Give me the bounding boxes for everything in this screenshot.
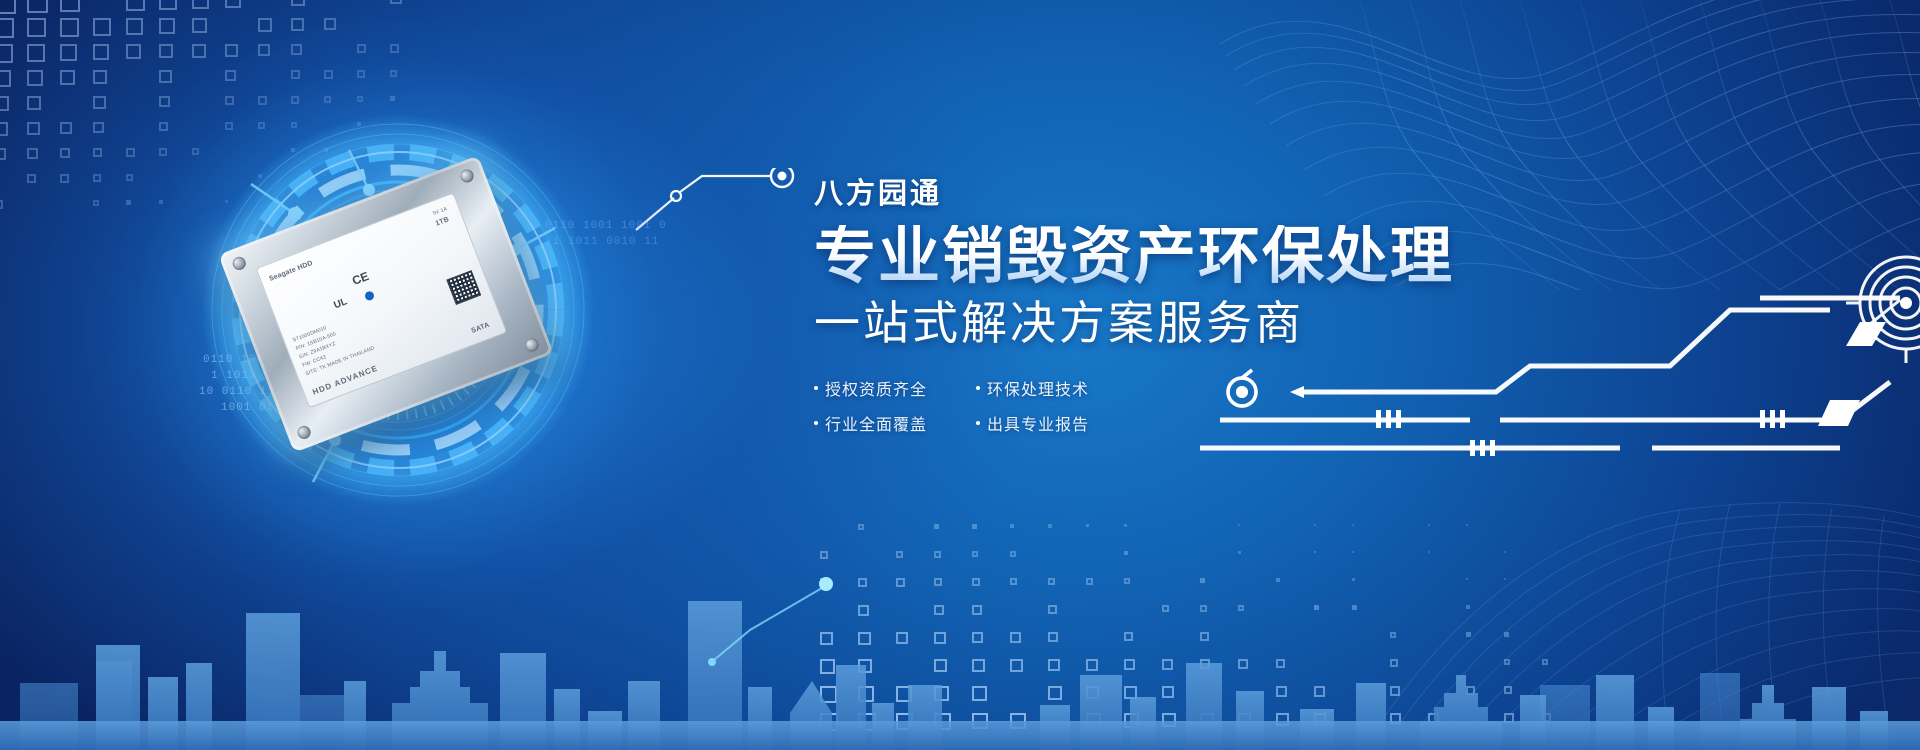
decorative-square (93, 18, 111, 36)
decorative-square (159, 18, 175, 34)
hard-drive-label: Seagate HDD 5V 1A 1TB ST1000DM010 P/N: 1… (256, 192, 508, 408)
feature-label-3: 出具专业报告 (987, 411, 1089, 435)
feature-list: 授权资质齐全 环保处理技术 行业全面覆盖 出具专业报告 (814, 376, 1574, 435)
decorative-square (0, 44, 13, 63)
decorative-square (126, 18, 143, 35)
hdd-model-text: Seagate HDD (268, 260, 314, 283)
decorative-square (225, 44, 238, 57)
decorative-square (291, 0, 305, 6)
decorative-square (1086, 524, 1089, 527)
hdd-capacity-text: 1TB (435, 216, 450, 227)
decorative-square (1428, 524, 1430, 526)
decorative-square (27, 44, 45, 62)
feature-item-3: 出具专业报告 (976, 411, 1111, 435)
decorative-square (0, 70, 11, 87)
decorative-square (159, 44, 173, 58)
decorative-square (0, 18, 14, 38)
decorative-square (27, 70, 43, 86)
decorative-square (93, 96, 106, 109)
decorative-square (60, 174, 69, 183)
decorative-square (93, 122, 104, 133)
decorative-square (1352, 524, 1354, 526)
decorative-square (258, 18, 272, 32)
feature-item-0: 授权资质齐全 (814, 376, 949, 400)
sparkle-nodes (690, 470, 950, 670)
hdd-screw-tl (231, 255, 248, 272)
decorative-square (291, 18, 304, 31)
binary-text-4: 0110 1001 1001 0 (545, 220, 667, 232)
subheadline: 一站式解决方案服务商 (814, 297, 1574, 350)
feature-label-2: 行业全面覆盖 (825, 411, 927, 435)
decorative-square (60, 148, 70, 158)
ce-mark: CE (350, 269, 371, 288)
decorative-square (159, 0, 177, 10)
hero-banner: 0110 1001 1001 0 1 1011 0010 110 10 0110… (0, 0, 1920, 750)
decorative-square (27, 174, 36, 183)
hdd-screw-bl (296, 424, 313, 441)
decorative-square (27, 18, 46, 37)
decorative-square (93, 174, 101, 182)
label-blue-dot (364, 290, 376, 302)
decorative-square (225, 0, 241, 8)
decorative-square (1466, 524, 1468, 526)
decorative-square (93, 70, 107, 84)
decorative-square (192, 44, 206, 58)
decorative-square (27, 122, 40, 135)
decorative-square (126, 0, 145, 11)
bullet-icon (976, 386, 980, 390)
feature-label-1: 环保处理技术 (987, 376, 1089, 400)
decorative-square (1124, 524, 1127, 527)
binary-text-5: 1 1011 0010 11 (553, 236, 659, 248)
decorative-square (390, 0, 402, 4)
decorative-square (27, 148, 38, 159)
decorative-square (126, 44, 141, 59)
decorative-square (60, 18, 79, 37)
feature-item-2: 行业全面覆盖 (814, 411, 949, 435)
decorative-square (1238, 524, 1240, 526)
decorative-square (0, 200, 3, 209)
decorative-square (93, 148, 102, 157)
hdd-interface-text: SATA (471, 322, 491, 335)
hdd-screw-tr (459, 168, 476, 185)
decorative-square (0, 96, 9, 111)
decorative-square (0, 0, 16, 14)
decorative-square (60, 122, 72, 134)
decorative-square (60, 44, 77, 61)
decorative-square (192, 0, 209, 9)
bullet-icon (976, 421, 980, 425)
headline: 专业销毁资产环保处理 (814, 225, 1574, 289)
bullet-icon (814, 386, 818, 390)
decorative-square (27, 0, 48, 13)
decorative-square (1314, 524, 1316, 526)
hdd-voltage-text: 5V 1A (432, 206, 448, 217)
copy-block: 八方园通 专业销毁资产环保处理 一站式解决方案服务商 授权资质齐全 环保处理技术… (814, 180, 1574, 435)
decorative-square (972, 524, 977, 529)
decorative-square (1048, 524, 1052, 528)
decorative-square (0, 148, 6, 160)
decorative-square (27, 96, 41, 110)
decorative-square (192, 18, 207, 33)
feature-item-1: 环保处理技术 (976, 376, 1111, 400)
hdd-screw-br (523, 337, 540, 354)
feature-label-0: 授权资质齐全 (825, 376, 927, 400)
bullet-icon (814, 421, 818, 425)
decorative-square (0, 122, 8, 136)
brand-name: 八方园通 (814, 180, 1574, 209)
decorative-square (60, 70, 75, 85)
ul-mark: UL (332, 296, 348, 311)
decorative-square (60, 0, 80, 12)
tech-ring-graphic: 0110 1001 1001 0 1 1011 0010 110 10 0110… (163, 110, 633, 520)
decorative-square (159, 70, 172, 83)
qr-code (446, 270, 481, 305)
decorative-square (93, 44, 109, 60)
decorative-square (1010, 524, 1014, 528)
